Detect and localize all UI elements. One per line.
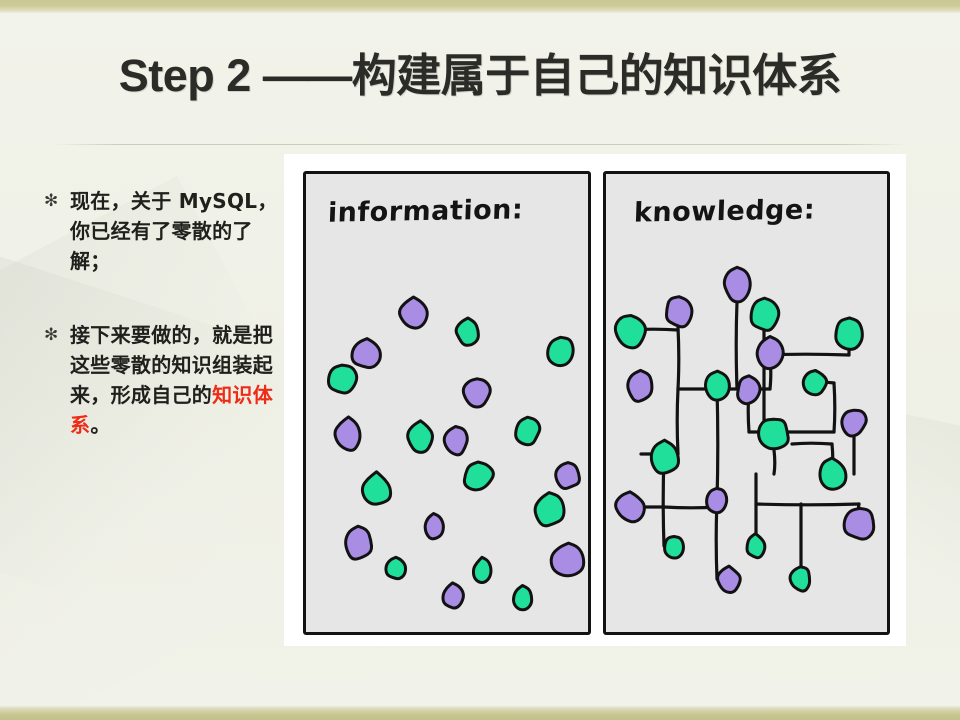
purple-node-blob <box>628 370 652 401</box>
purple-node-blob <box>463 379 490 407</box>
purple-node-blob <box>738 376 760 404</box>
slide-canvas: Step 2 ——构建属于自己的知识体系 ✻ 现在，关于 MySQL，你已经有了… <box>0 0 960 720</box>
bottom-accent-bar <box>0 706 960 720</box>
network-edge <box>774 450 775 474</box>
green-node-blob <box>665 537 684 559</box>
information-panel-label: information: <box>327 194 523 228</box>
network-edge <box>770 355 771 389</box>
network-edge <box>792 443 832 444</box>
network-edge <box>736 302 737 389</box>
purple-node-blob <box>551 543 584 576</box>
purple-node-blob <box>335 417 360 450</box>
page-title-container: Step 2 ——构建属于自己的知识体系 <box>0 52 960 99</box>
green-node-blob <box>386 557 406 578</box>
green-node-blob <box>836 318 863 349</box>
green-node-blob <box>803 371 826 395</box>
network-edge <box>832 444 833 474</box>
network-edge <box>748 390 749 432</box>
network-edge <box>663 457 664 546</box>
list-item: ✻ 接下来要做的，就是把这些零散的知识组装起来，形成自己的知识体系。 <box>44 320 284 440</box>
green-node-blob <box>473 557 491 582</box>
network-edge <box>631 329 678 330</box>
green-node-blob <box>456 318 478 345</box>
network-edge <box>815 382 834 383</box>
page-title: Step 2 ——构建属于自己的知识体系 <box>119 52 842 99</box>
title-divider <box>52 144 908 145</box>
purple-node-blob <box>352 339 380 368</box>
network-edge <box>716 501 717 579</box>
green-node-blob <box>535 493 564 526</box>
green-node-blob <box>820 458 846 489</box>
purple-node-blob <box>844 508 874 539</box>
network-edge <box>678 327 679 389</box>
asterisk-bullet-icon: ✻ <box>44 186 70 216</box>
bullet-segment-text: 。 <box>90 413 110 437</box>
knowledge-panel-label: knowledge: <box>633 194 815 228</box>
bullet-item-label-2: 接下来要做的，就是把这些零散的知识组装起来，形成自己的知识体系。 <box>70 320 284 440</box>
green-node-blob <box>548 337 573 365</box>
purple-node-blob <box>842 410 866 436</box>
network-edge <box>677 389 678 454</box>
bullet-list: ✻ 现在，关于 MySQL，你已经有了零散的了解； ✻ 接下来要做的，就是把这些… <box>44 186 284 484</box>
bullet-item-label-1: 现在，关于 MySQL，你已经有了零散的了解； <box>70 186 284 276</box>
knowledge-network-layer <box>606 174 887 632</box>
purple-node-blob <box>666 297 691 327</box>
network-edge <box>756 504 859 505</box>
purple-node-blob <box>556 463 580 489</box>
green-node-blob <box>651 440 678 473</box>
purple-node-blob <box>707 488 727 512</box>
bullet-segment-text: 现在，关于 MySQL，你已经有了零散的了解； <box>70 189 278 273</box>
network-edge <box>858 504 859 523</box>
green-node-blob <box>408 421 433 453</box>
information-node-layer <box>306 174 588 632</box>
purple-node-blob <box>616 492 645 522</box>
purple-node-blob <box>425 514 443 539</box>
illustration-panels: information: knowledge: <box>303 171 887 629</box>
purple-node-blob <box>346 526 372 559</box>
purple-node-blob <box>724 267 750 302</box>
top-accent-bar <box>0 0 960 13</box>
network-edge <box>717 387 718 501</box>
illustration-frame: information: knowledge: <box>285 155 905 645</box>
green-node-blob <box>615 316 645 348</box>
green-node-blob <box>328 365 356 393</box>
green-node-blob <box>751 298 779 330</box>
purple-node-blob <box>444 427 467 455</box>
knowledge-panel: knowledge: <box>603 171 890 635</box>
purple-node-blob <box>400 297 428 328</box>
network-edge <box>834 383 835 432</box>
green-node-blob <box>362 472 390 504</box>
green-node-blob <box>790 567 810 591</box>
purple-node-blob <box>718 566 741 592</box>
green-node-blob <box>759 419 789 449</box>
green-node-blob <box>516 417 540 445</box>
network-edge <box>664 507 717 508</box>
purple-node-blob <box>443 583 463 608</box>
asterisk-bullet-icon: ✻ <box>44 320 70 350</box>
information-panel: information: <box>303 171 591 635</box>
green-node-blob <box>514 586 532 610</box>
purple-node-blob <box>757 337 783 369</box>
green-node-blob <box>464 462 493 490</box>
list-item: ✻ 现在，关于 MySQL，你已经有了零散的了解； <box>44 186 284 276</box>
green-node-blob <box>747 534 765 558</box>
network-edge <box>640 387 641 388</box>
green-node-blob <box>706 371 730 400</box>
network-edge <box>764 354 849 355</box>
